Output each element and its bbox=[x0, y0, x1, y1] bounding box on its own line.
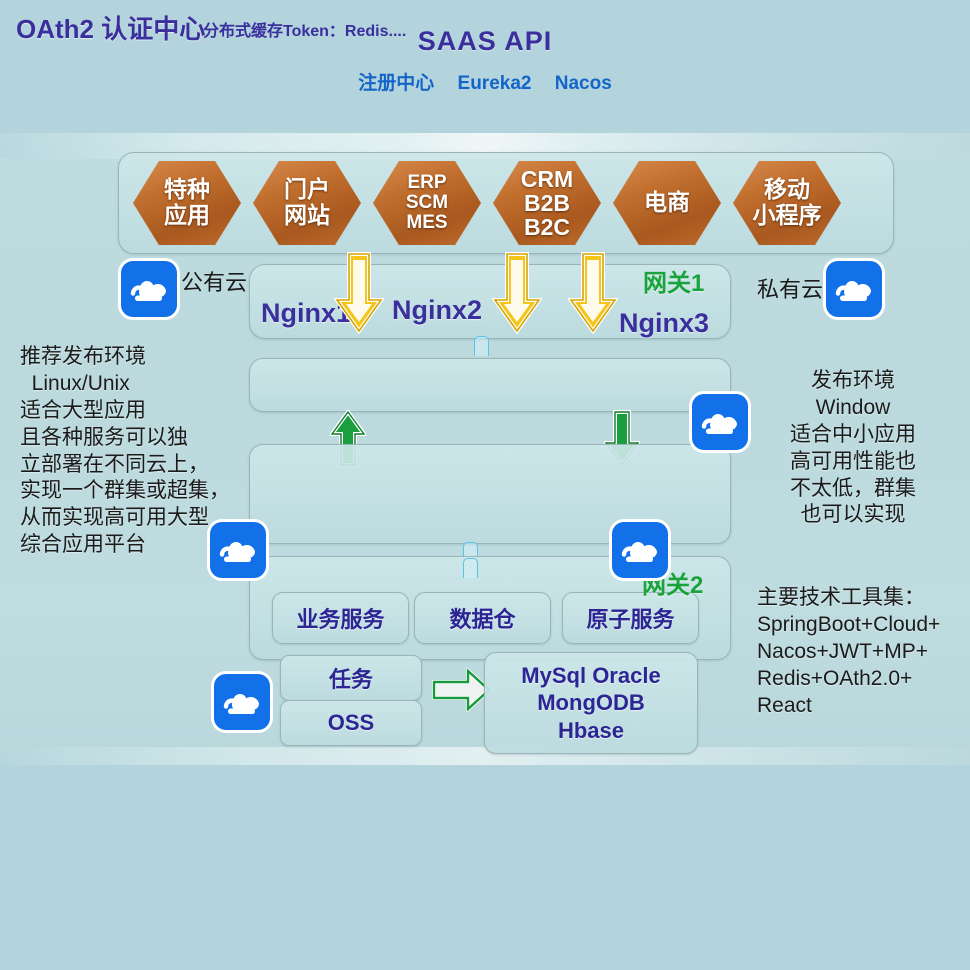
down-arrow-yellow-2 bbox=[492, 252, 542, 334]
app-hex-2-line-1: SCM bbox=[406, 193, 448, 213]
app-hex-0[interactable]: 特种应用 bbox=[133, 161, 241, 245]
app-hex-2-line-2: MES bbox=[406, 213, 448, 233]
cloud-icon-storage[interactable] bbox=[214, 674, 270, 730]
nacos-label: Nacos bbox=[555, 73, 612, 94]
oss-box[interactable]: OSS bbox=[280, 700, 422, 746]
down-arrow-yellow-3 bbox=[568, 252, 618, 334]
cloud-icon bbox=[128, 271, 170, 307]
app-hex-5-line-0: 移动 bbox=[753, 177, 822, 203]
cloud-icon bbox=[619, 532, 661, 568]
private-cloud-label: 私有云 bbox=[757, 272, 823, 304]
database-line-2: Hbase bbox=[558, 717, 624, 745]
app-hex-1[interactable]: 门户网站 bbox=[253, 161, 361, 245]
cloud-icon bbox=[221, 684, 263, 720]
app-hex-5[interactable]: 移动小程序 bbox=[733, 161, 841, 245]
app-hex-3-line-1: B2B bbox=[521, 191, 573, 215]
auth-center-panel bbox=[249, 358, 731, 412]
registry-label: 注册中心 bbox=[358, 73, 434, 94]
app-hex-5-line-1: 小程序 bbox=[753, 203, 822, 229]
cloud-icon-auth[interactable] bbox=[692, 394, 748, 450]
database-line-0: MySql Oracle bbox=[521, 662, 660, 690]
cloud-icon bbox=[699, 404, 741, 440]
database-box[interactable]: MySql Oracle MongODB Hbase bbox=[484, 652, 698, 754]
connector-services-top bbox=[463, 558, 478, 578]
database-line-1: MongODB bbox=[537, 689, 645, 717]
down-arrow-yellow-1 bbox=[334, 252, 384, 334]
diagram-canvas: 特种应用 门户网站 ERPSCMMES CRMB2BB2C 电商 移动小程序 N… bbox=[0, 0, 970, 970]
saas-api-title: SAAS API bbox=[0, 26, 970, 57]
eureka-label: Eureka2 bbox=[458, 73, 532, 94]
app-hex-4-line-0: 电商 bbox=[644, 190, 690, 216]
app-hex-0-line-1: 应用 bbox=[164, 203, 210, 229]
public-cloud-label: 公有云 bbox=[181, 265, 247, 297]
saas-registry-row: 注册中心 Eureka2 Nacos bbox=[0, 68, 970, 95]
app-hex-3[interactable]: CRMB2BB2C bbox=[493, 161, 601, 245]
task-box[interactable]: 任务 bbox=[280, 655, 422, 701]
service-box-0[interactable]: 业务服务 bbox=[272, 592, 409, 644]
nginx3-label: Nginx3 bbox=[619, 308, 709, 339]
cloud-icon-public[interactable] bbox=[121, 261, 177, 317]
connector-gw1-oauth bbox=[474, 336, 489, 356]
app-hex-2[interactable]: ERPSCMMES bbox=[373, 161, 481, 245]
app-hex-4[interactable]: 电商 bbox=[613, 161, 721, 245]
app-hex-1-line-1: 网站 bbox=[284, 203, 330, 229]
note-right-top: 发布环境 Window 适合中小应用 高可用性能也 不太低，群集 也可以实现 bbox=[790, 368, 916, 529]
app-hex-1-line-0: 门户 bbox=[284, 177, 330, 203]
app-hex-3-line-0: CRM bbox=[521, 167, 573, 191]
cloud-icon-private[interactable] bbox=[826, 261, 882, 317]
app-hex-2-line-0: ERP bbox=[406, 173, 448, 193]
cloud-icon bbox=[833, 271, 875, 307]
application-layer-panel: 特种应用 门户网站 ERPSCMMES CRMB2BB2C 电商 移动小程序 bbox=[118, 152, 894, 254]
app-hex-3-line-2: B2C bbox=[521, 215, 573, 239]
service-box-1[interactable]: 数据仓 bbox=[414, 592, 551, 644]
note-left: 推荐发布环境 Linux/Unix 适合大型应用 且各种服务可以独 立部署在不同… bbox=[20, 344, 230, 559]
cloud-icon-gateway2[interactable] bbox=[612, 522, 668, 578]
note-right-bottom: 主要技术工具集： SpringBoot+Cloud+ Nacos+JWT+MP+… bbox=[757, 585, 940, 719]
gateway1-label: 网关1 bbox=[643, 263, 704, 298]
right-arrow-green bbox=[432, 668, 492, 712]
app-hex-0-line-0: 特种 bbox=[164, 177, 210, 203]
nginx2-label: Nginx2 bbox=[392, 295, 482, 326]
